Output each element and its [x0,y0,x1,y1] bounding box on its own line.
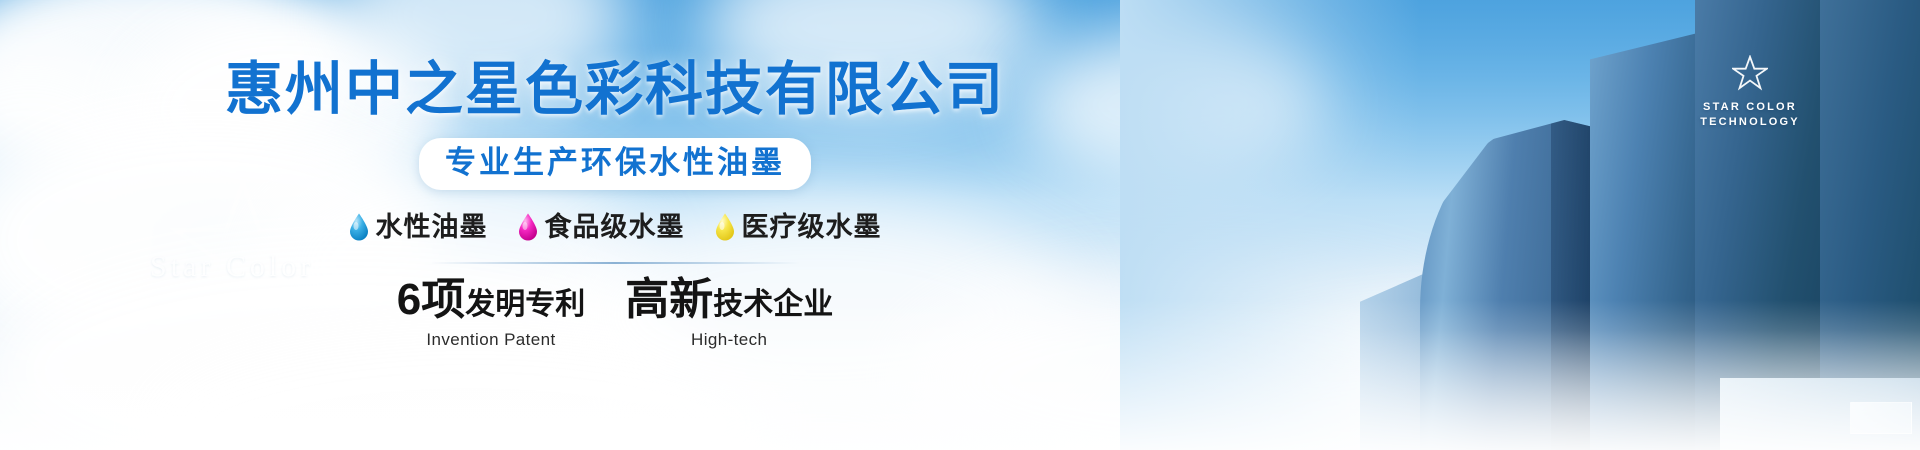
badge-label: 技术企业 [713,288,833,321]
badge-unit: 项 [421,275,465,324]
ink-type-label: 医疗级水墨 [742,212,882,242]
badge-subtitle: High-tech [625,330,833,350]
brand-logo-line1: STAR COLOR [1675,100,1825,115]
badge-main-text: 高新技术企业 [625,278,833,327]
slogan-text: 专业生产环保水性油墨 [445,145,785,181]
badge-invention-patent: 6项发明专利 Invention Patent [397,278,585,350]
brand-logo-line2: TECHNOLOGY [1675,115,1825,130]
divider [430,262,800,264]
star-icon [1732,55,1768,91]
badge-subtitle: Invention Patent [397,330,585,350]
list-item: 食品级水墨 [518,212,685,242]
banner-content: 惠州中之星色彩科技有限公司 专业生产环保水性油墨 水性油墨 [0,0,1230,450]
badge-number: 高新 [625,275,713,324]
list-item: 水性油墨 [349,212,488,242]
page-title: 惠州中之星色彩科技有限公司 [225,58,1005,122]
credential-badges: 6项发明专利 Invention Patent 高新技术企业 High-tech [397,278,833,350]
ink-type-label: 食品级水墨 [545,212,685,242]
badge-main-text: 6项发明专利 [397,278,585,327]
badge-number: 6 [397,275,421,324]
ink-drop-icon [518,213,538,241]
badge-label: 发明专利 [465,288,585,321]
badge-high-tech: 高新技术企业 High-tech [625,278,833,350]
list-item: 医疗级水墨 [715,212,882,242]
ink-drop-icon [349,213,369,241]
brand-logo: STAR COLOR TECHNOLOGY [1675,55,1825,130]
ink-drop-icon [715,213,735,241]
ink-type-label: 水性油墨 [376,212,488,242]
promo-banner: Star Color STAR COLOR TECHNOLOGY 惠州中之星色彩… [0,0,1920,450]
slogan-badge: 专业生产环保水性油墨 [419,138,811,190]
ink-type-list: 水性油墨 食品级水墨 [349,212,882,242]
